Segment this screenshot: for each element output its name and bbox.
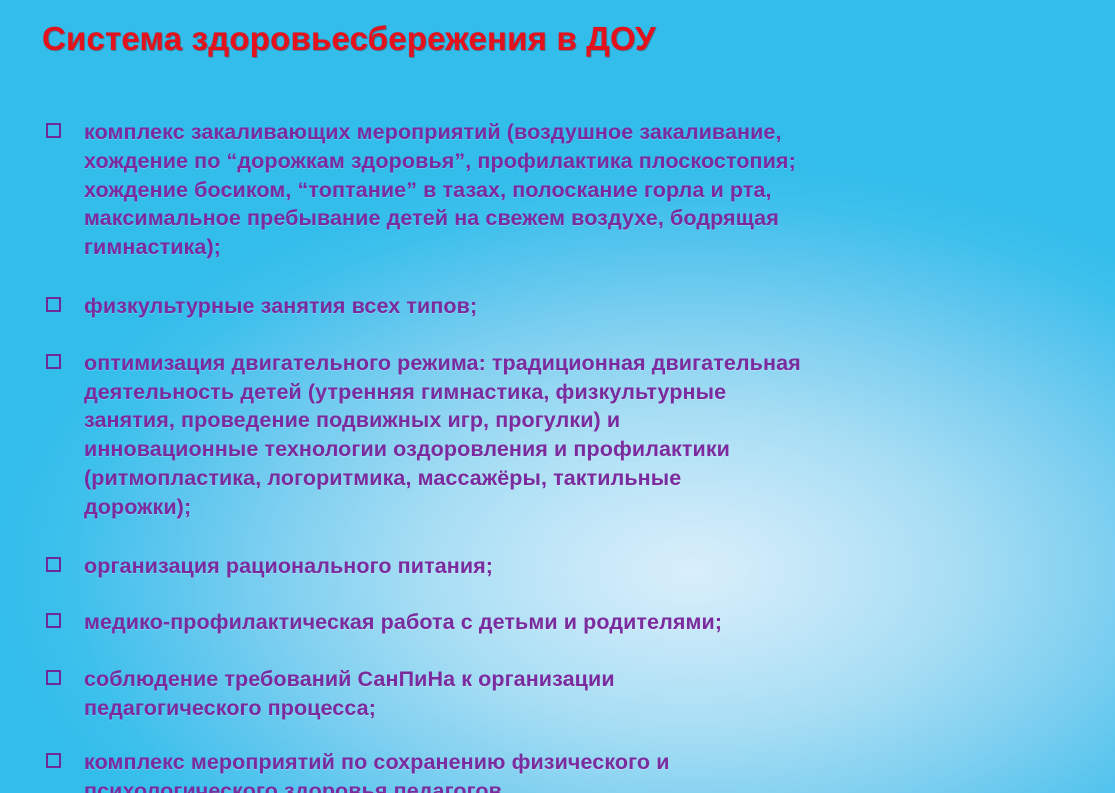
hollow-square-bullet-icon xyxy=(46,613,61,628)
hollow-square-bullet-icon xyxy=(46,297,61,312)
list-item: комплекс мероприятий по сохранению физич… xyxy=(42,748,1088,793)
list-item-text: физкультурные занятия всех типов; xyxy=(84,292,1088,321)
hollow-square-bullet-icon xyxy=(46,354,61,369)
list-item-text: комплекс закаливающих мероприятий (возду… xyxy=(84,118,1088,262)
list-item-text: соблюдение требований СанПиНа к организа… xyxy=(84,665,1088,723)
list-item: физкультурные занятия всех типов; xyxy=(42,292,1088,321)
hollow-square-bullet-icon xyxy=(46,557,61,572)
list-item: организация рационального питания; xyxy=(42,552,1088,581)
list-item: оптимизация двигательного режима: традиц… xyxy=(42,349,1088,522)
list-item: соблюдение требований СанПиНа к организа… xyxy=(42,665,1088,723)
list-item: комплекс закаливающих мероприятий (возду… xyxy=(42,118,1088,262)
list-item-text: медико-профилактическая работа с детьми … xyxy=(84,608,1088,637)
presentation-slide: Система здоровьесбережения в ДОУ комплек… xyxy=(0,0,1115,793)
list-item-text: организация рационального питания; xyxy=(84,552,1088,581)
hollow-square-bullet-icon xyxy=(46,123,61,138)
list-item-text: оптимизация двигательного режима: традиц… xyxy=(84,349,1088,522)
hollow-square-bullet-icon xyxy=(46,670,61,685)
slide-title-placeholder: Система здоровьесбережения в ДОУ xyxy=(42,20,1072,82)
list-item-text: комплекс мероприятий по сохранению физич… xyxy=(84,748,1088,793)
hollow-square-bullet-icon xyxy=(46,753,61,768)
list-item: медико-профилактическая работа с детьми … xyxy=(42,608,1088,637)
page-title: Система здоровьесбережения в ДОУ xyxy=(42,20,1072,58)
bullet-list: комплекс закаливающих мероприятий (возду… xyxy=(42,118,1088,793)
